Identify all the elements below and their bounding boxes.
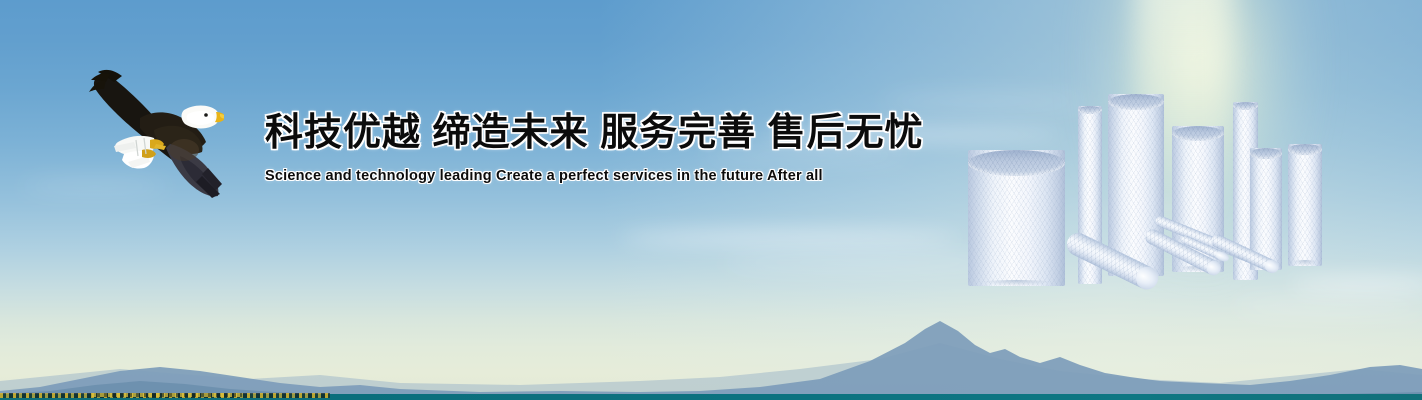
- promo-banner: 科技优越 缔造未来 服务完善 售后无忧 Science and technolo…: [0, 0, 1422, 400]
- page-subtitle: Science and technology leading Create a …: [265, 168, 905, 184]
- page-title: 科技优越 缔造未来 服务完善 售后无忧: [265, 112, 905, 156]
- right-cartridge-b: [1288, 144, 1322, 266]
- bald-eagle-image: [84, 58, 224, 214]
- large-tall-cartridge: [1108, 94, 1164, 276]
- filter-cartridge-product-group: [950, 84, 1350, 314]
- shore-lights: [92, 393, 242, 397]
- headline-block: 科技优越 缔造未来 服务完善 售后无忧 Science and technolo…: [265, 112, 905, 184]
- cloud-wisp: [620, 230, 960, 246]
- wide-short-cartridge: [968, 150, 1065, 286]
